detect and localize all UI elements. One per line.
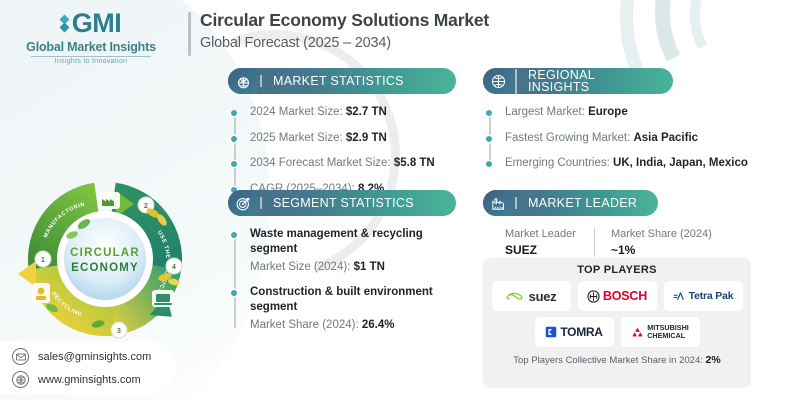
market-share-value: ~1% [611, 243, 712, 257]
suez-logo-icon [506, 290, 526, 303]
segment-statistics-list: Waste management & recycling segment Mar… [228, 227, 456, 334]
player-name-tetra-pak: Tetra Pak [689, 290, 734, 302]
company-logo[interactable]: GMI Global Market Insights Insights to I… [6, 8, 176, 70]
market-statistics-list: 2024 Market Size: $2.7 TN 2025 Market Si… [228, 105, 456, 197]
region-value: Europe [588, 106, 628, 118]
stat-label: 2025 Market Size: [250, 132, 343, 144]
segment-number-1: 1 [41, 257, 45, 264]
envelope-icon [12, 348, 29, 365]
contact-email-row[interactable]: sales@gminsights.com [12, 348, 176, 365]
segment-heading: Construction & built environment segment [250, 285, 456, 315]
regional-insights-list: Largest Market: Europe Fastest Growing M… [483, 105, 783, 172]
logo-diamond-icon [61, 16, 68, 31]
segment-statistics-header[interactable]: SEGMENT STATISTICS [228, 190, 456, 216]
market-share-caption: Market Share (2024) [611, 228, 712, 240]
target-arrow-icon [228, 190, 258, 216]
bosch-logo-icon [587, 290, 600, 303]
player-name-suez: suez [529, 289, 557, 304]
logo-company-name: Global Market Insights [6, 40, 176, 54]
stat-value: $2.7 TN [346, 106, 387, 118]
region-label: Fastest Growing Market: [505, 132, 630, 144]
segment-value: $1 TN [354, 261, 385, 273]
list-item: 2025 Market Size: $2.9 TN [250, 131, 456, 147]
section-regional-insights: REGIONAL INSIGHTS Largest Market: Europe… [483, 68, 783, 182]
contact-email: sales@gminsights.com [38, 351, 151, 363]
globe-icon [483, 68, 513, 94]
segment-statistics-label: SEGMENT STATISTICS [260, 197, 414, 210]
manufacturing-icon [98, 192, 120, 209]
page-subtitle: Global Forecast (2025 – 2034) [200, 35, 489, 51]
list-item: Waste management & recycling segment Mar… [250, 227, 456, 275]
arrow-head-left [18, 261, 36, 287]
segment-number-4: 4 [172, 264, 176, 271]
logo-mark: GMI [6, 8, 176, 38]
market-leader-caption: Market Leader [505, 228, 576, 240]
section-segment-statistics: SEGMENT STATISTICS Waste management & re… [228, 190, 456, 344]
player-card-tomra[interactable]: TOMRA [535, 317, 614, 347]
contact-website: www.gminsights.com [38, 374, 141, 386]
infographic-page: GMI Global Market Insights Insights to I… [0, 0, 800, 400]
region-value: Asia Pacific [633, 132, 698, 144]
contact-website-row[interactable]: www.gminsights.com [12, 371, 176, 388]
globe-icon [12, 371, 29, 388]
top-players-panel: TOP PLAYERS suez BOSCH Tet [483, 258, 751, 388]
regional-insights-header[interactable]: REGIONAL INSIGHTS [483, 68, 673, 94]
market-leader-details: Market Leader SUEZ Market Share (2024) ~… [483, 228, 783, 257]
top-players-footnote: Top Players Collective Market Share in 2… [513, 354, 720, 366]
circular-economy-diagram: CIRCULAR ECONOMY 1 2 3 4 MANUFACTURING U… [6, 178, 204, 346]
top-players-title: TOP PLAYERS [577, 264, 657, 276]
list-item: Emerging Countries: UK, India, Japan, Me… [505, 156, 783, 172]
market-chart-globe-icon [228, 68, 258, 94]
region-label: Emerging Countries: [505, 157, 610, 169]
segment-heading: Waste management & recycling segment [250, 227, 456, 257]
list-item: Construction & built environment segment… [250, 285, 456, 333]
section-market-statistics: MARKET STATISTICS 2024 Market Size: $2.7… [228, 68, 456, 207]
player-name-mitsubishi-chemical: MITSUBISHI CHEMICAL [647, 324, 689, 339]
stat-value: $5.8 TN [394, 157, 435, 169]
region-value: UK, India, Japan, Mexico [613, 157, 748, 169]
page-title: Circular Economy Solutions Market [200, 10, 489, 31]
section-market-leader: MARKET LEADER Market Leader SUEZ Market … [483, 190, 783, 257]
tomra-logo-icon [545, 326, 557, 338]
recycling-icon [32, 283, 50, 303]
use-product-icon [152, 290, 174, 307]
list-item: Fastest Growing Market: Asia Pacific [505, 131, 783, 147]
player-name-bosch: BOSCH [603, 289, 647, 303]
stat-value: $2.9 TN [346, 132, 387, 144]
segment-label: Market Share (2024): [250, 319, 359, 331]
player-card-bosch[interactable]: BOSCH [578, 281, 657, 311]
list-item: 2024 Market Size: $2.7 TN [250, 105, 456, 121]
market-leader-label: MARKET LEADER [515, 197, 637, 210]
list-item: 2034 Forecast Market Size: $5.8 TN [250, 156, 456, 172]
market-leader-share-block: Market Share (2024) ~1% [594, 228, 730, 257]
factory-icon [483, 190, 513, 216]
segment-number-3: 3 [117, 328, 121, 335]
stat-label: 2034 Forecast Market Size: [250, 157, 391, 169]
footnote-value: 2% [706, 354, 721, 366]
player-card-mitsubishi-chemical[interactable]: MITSUBISHI CHEMICAL [621, 317, 700, 347]
contact-block: sales@gminsights.com www.gminsights.com [0, 341, 176, 394]
top-players-row: suez BOSCH Tetra Pak [492, 281, 743, 311]
regional-insights-label: REGIONAL INSIGHTS [515, 69, 657, 94]
market-leader-header[interactable]: MARKET LEADER [483, 190, 658, 216]
footnote-label: Top Players Collective Market Share in 2… [513, 355, 703, 366]
market-leader-value: SUEZ [505, 243, 576, 257]
market-statistics-label: MARKET STATISTICS [260, 75, 404, 88]
page-title-block: Circular Economy Solutions Market Global… [188, 10, 489, 51]
mitsubishi-logo-icon [631, 326, 644, 338]
market-leader-name-block: Market Leader SUEZ [505, 228, 594, 257]
diagram-center-line2: ECONOMY [71, 262, 139, 274]
region-label: Largest Market: [505, 106, 585, 118]
list-item: Largest Market: Europe [505, 105, 783, 121]
top-players-row: TOMRA MITSUBISHI CHEMICAL [535, 317, 700, 347]
player-card-suez[interactable]: suez [492, 281, 571, 311]
diagram-core [64, 218, 146, 300]
player-name-tomra: TOMRA [560, 325, 602, 339]
logo-tagline: Insights to Innovation [6, 58, 176, 65]
segment-value: 26.4% [362, 319, 395, 331]
logo-divider [31, 56, 151, 57]
segment-label: Market Size (2024): [250, 261, 350, 273]
tetrapak-logo-icon [673, 291, 686, 302]
player-card-tetra-pak[interactable]: Tetra Pak [664, 281, 743, 311]
diagram-center-line1: CIRCULAR [70, 247, 140, 259]
logo-initials: GMI [72, 10, 122, 37]
stat-label: 2024 Market Size: [250, 106, 343, 118]
market-statistics-header[interactable]: MARKET STATISTICS [228, 68, 456, 94]
